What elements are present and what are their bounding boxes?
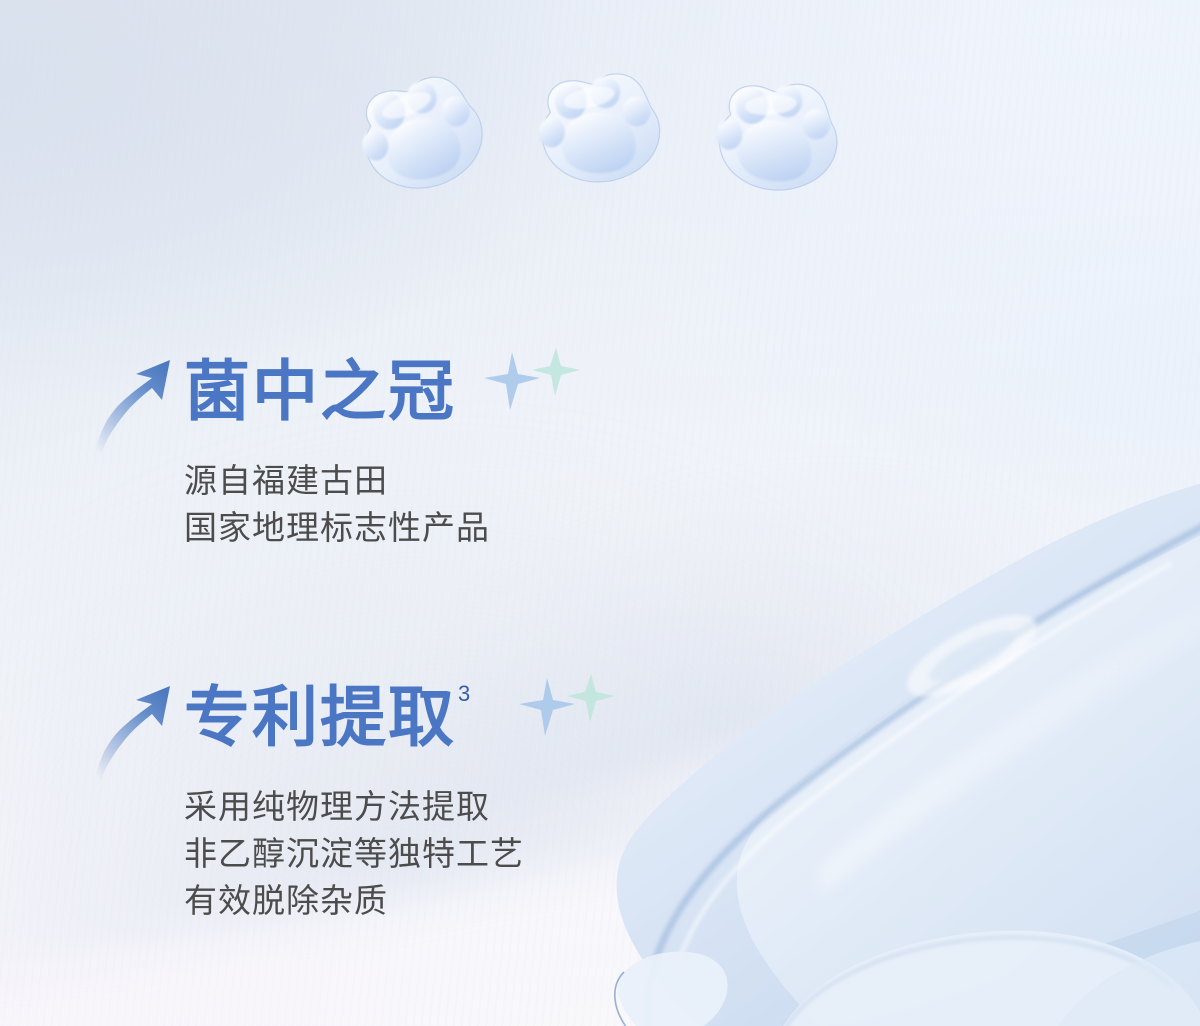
feature-body-1: 源自福建古田 国家地理标志性产品 — [184, 458, 490, 552]
feature-headline-2: 专利提取3 — [184, 684, 470, 750]
up-arrow-icon — [92, 356, 178, 460]
feature-body-line: 国家地理标志性产品 — [184, 505, 490, 552]
feature-body-line: 有效脱除杂质 — [184, 878, 524, 925]
paw-print-icon-2 — [526, 60, 670, 195]
feature-block-2: 专利提取3 采用纯物理方法提取 非乙醇沉淀等独特工艺 有效脱除杂质 — [92, 678, 524, 925]
paw-print-icon-1 — [343, 60, 498, 206]
feature-body-line: 源自福建古田 — [184, 458, 490, 505]
feature-body-line: 非乙醇沉淀等独特工艺 — [184, 831, 524, 878]
feature-headline-text-2: 专利提取 — [184, 680, 456, 754]
feature-body-line: 采用纯物理方法提取 — [184, 784, 524, 831]
paw-print-icon-3 — [697, 60, 856, 210]
feature-block-1: 菌中之冠 源自福建古田 国家地理标志性产品 — [92, 352, 490, 552]
up-arrow-icon — [92, 682, 178, 786]
feature-headline-1: 菌中之冠 — [184, 358, 458, 424]
feature-headline-row-2: 专利提取3 — [92, 678, 524, 778]
sparkle-icon — [517, 674, 627, 738]
feature-body-2: 采用纯物理方法提取 非乙醇沉淀等独特工艺 有效脱除杂质 — [184, 784, 524, 925]
promo-page: 菌中之冠 源自福建古田 国家地理标志性产品 专利提取3 — [0, 0, 1200, 1026]
paw-print-row — [0, 0, 1200, 230]
feature-headline-row-1: 菌中之冠 — [92, 352, 490, 452]
feature-headline-text-1: 菌中之冠 — [184, 354, 456, 428]
sparkle-icon — [482, 348, 592, 412]
feature-superscript-2: 3 — [458, 681, 470, 706]
